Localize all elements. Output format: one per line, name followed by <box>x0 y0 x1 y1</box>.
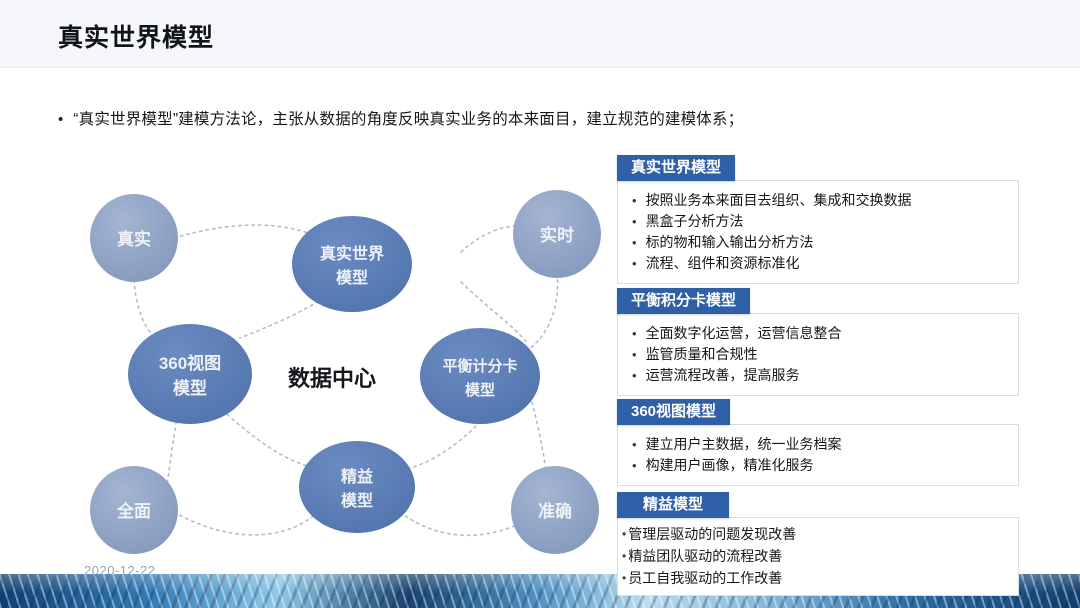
lead-bullet-line: • “真实世界模型”建模方法论，主张从数据的角度反映真实业务的本来面目，建立规范… <box>58 110 743 130</box>
list-item-text: 建立用户主数据，统一业务档案 <box>646 434 842 455</box>
panel-tab-360-view-model[interactable]: 360视图模型 <box>617 399 730 425</box>
slide: 真实世界模型 • “真实世界模型”建模方法论，主张从数据的角度反映真实业务的本来… <box>0 0 1080 608</box>
list-item: •黑盒子分析方法 <box>632 211 1006 232</box>
bullet-icon: • <box>58 110 63 130</box>
panel-lean-model: 精益模型 •管理层驱动的问题发现改善 •精益团队驱动的流程改善 •员工自我驱动的… <box>617 492 1019 596</box>
panel-balanced-scorecard-model: 平衡积分卡模型 •全面数字化运营，运营信息整合 •监管质量和合规性 •运营流程改… <box>617 288 1019 396</box>
panel-body-lean-model: •管理层驱动的问题发现改善 •精益团队驱动的流程改善 •员工自我驱动的工作改善 <box>617 517 1019 596</box>
bullet-icon: • <box>622 523 626 545</box>
list-item-text: 管理层驱动的问题发现改善 <box>628 523 796 545</box>
bullet-icon: • <box>632 434 637 455</box>
outer-node-bottom-right: 准确 <box>511 466 599 554</box>
outer-node-label: 准确 <box>538 501 572 521</box>
list-item: •构建用户画像，精准化服务 <box>632 455 1006 476</box>
inner-node-label-line1: 平衡计分卡 <box>442 357 517 375</box>
list-item-text: 运营流程改善，提高服务 <box>646 365 800 386</box>
outer-node-bottom-left: 全面 <box>90 466 178 554</box>
list-item-text: 监管质量和合规性 <box>646 344 758 365</box>
list-item: •建立用户主数据，统一业务档案 <box>632 434 1006 455</box>
bullet-icon: • <box>632 365 637 386</box>
panel-tab-lean-model[interactable]: 精益模型 <box>617 492 729 518</box>
diagram-center-label: 数据中心 <box>288 366 376 391</box>
list-item: •管理层驱动的问题发现改善 <box>622 523 1008 545</box>
panel-tab-real-world-model[interactable]: 真实世界模型 <box>617 155 735 181</box>
outer-node-label: 全面 <box>116 501 151 521</box>
lead-bullet-text: “真实世界模型”建模方法论，主张从数据的角度反映真实业务的本来面目，建立规范的建… <box>73 110 743 130</box>
bullet-icon: • <box>632 190 637 211</box>
list-item-text: 精益团队驱动的流程改善 <box>628 545 782 567</box>
list-item-text: 按照业务本来面目去组织、集成和交换数据 <box>646 190 912 211</box>
panel-body-balanced-scorecard-model: •全面数字化运营，运营信息整合 •监管质量和合规性 •运营流程改善，提高服务 <box>617 313 1019 396</box>
list-item: •运营流程改善，提高服务 <box>632 365 1006 386</box>
outer-node-label: 实时 <box>540 225 574 245</box>
inner-node-label-line2: 模型 <box>173 378 207 398</box>
outer-node-top-right: 实时 <box>513 190 601 278</box>
bullet-icon: • <box>632 344 637 365</box>
panel-body-real-world-model: •按照业务本来面目去组织、集成和交换数据 •黑盒子分析方法 •标的物和输入输出分… <box>617 180 1019 284</box>
inner-node-label-line2: 模型 <box>336 268 368 287</box>
inner-node-lean-model: 精益 模型 <box>299 441 415 533</box>
real-world-model-diagram: 真实 实时 全面 准确 真实世界 模型 平衡计分卡 <box>62 160 602 560</box>
list-item-text: 全面数字化运营，运营信息整合 <box>646 323 842 344</box>
list-item-text: 标的物和输入输出分析方法 <box>646 232 814 253</box>
inner-node-label-line1: 精益 <box>341 467 373 486</box>
bullet-icon: • <box>622 567 626 589</box>
bullet-icon: • <box>632 253 637 274</box>
list-item: •按照业务本来面目去组织、集成和交换数据 <box>632 190 1006 211</box>
list-item: •标的物和输入输出分析方法 <box>632 232 1006 253</box>
list-item-text: 构建用户画像，精准化服务 <box>646 455 814 476</box>
inner-node-label-line2: 模型 <box>465 381 495 399</box>
bullet-icon: • <box>632 211 637 232</box>
inner-node-label-line2: 模型 <box>341 491 373 510</box>
list-item: •监管质量和合规性 <box>632 344 1006 365</box>
inner-node-balanced-scorecard-model: 平衡计分卡 模型 <box>420 328 540 424</box>
list-item: •流程、组件和资源标准化 <box>632 253 1006 274</box>
panel-tab-balanced-scorecard-model[interactable]: 平衡积分卡模型 <box>617 288 750 314</box>
panel-body-360-view-model: •建立用户主数据，统一业务档案 •构建用户画像，精准化服务 <box>617 424 1019 486</box>
outer-node-label: 真实 <box>117 229 151 249</box>
bullet-icon: • <box>632 232 637 253</box>
outer-node-top-left: 真实 <box>90 194 178 282</box>
panel-360-view-model: 360视图模型 •建立用户主数据，统一业务档案 •构建用户画像，精准化服务 <box>617 399 1019 486</box>
bullet-icon: • <box>622 545 626 567</box>
inner-node-360-view-model: 360视图 模型 <box>128 324 252 424</box>
page-title: 真实世界模型 <box>58 18 214 54</box>
list-item: •员工自我驱动的工作改善 <box>622 567 1008 589</box>
panel-real-world-model: 真实世界模型 •按照业务本来面目去组织、集成和交换数据 •黑盒子分析方法 •标的… <box>617 155 1019 284</box>
list-item: •精益团队驱动的流程改善 <box>622 545 1008 567</box>
list-item-text: 员工自我驱动的工作改善 <box>628 567 782 589</box>
list-item: •全面数字化运营，运营信息整合 <box>632 323 1006 344</box>
inner-node-label-line1: 真实世界 <box>320 244 384 263</box>
bullet-icon: • <box>632 455 637 476</box>
inner-node-real-world-model: 真实世界 模型 <box>292 216 412 312</box>
bullet-icon: • <box>632 323 637 344</box>
inner-node-label-line1: 360视图 <box>159 353 221 373</box>
list-item-text: 黑盒子分析方法 <box>646 211 744 232</box>
list-item-text: 流程、组件和资源标准化 <box>646 253 800 274</box>
